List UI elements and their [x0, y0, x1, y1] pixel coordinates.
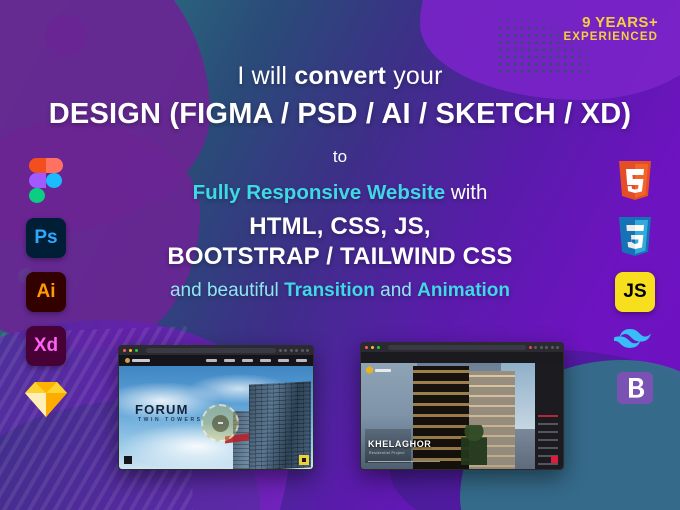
- headline-line-3-highlight: Fully Responsive Website: [193, 181, 446, 204]
- headline-line-4: HTML, CSS, JS,: [0, 213, 680, 241]
- forum-subtitle: TWIN TOWERS: [138, 417, 203, 423]
- headline-line-1-post: your: [386, 62, 443, 90]
- site-menu-a[interactable]: [206, 359, 307, 362]
- adobe-xd-icon: Xd: [26, 326, 66, 366]
- experience-badge-years: 9 YEARS+: [563, 15, 658, 31]
- javascript-icon-label: JS: [623, 281, 646, 303]
- headline-line-6-mid: and: [375, 280, 417, 301]
- headline-line-6-animation: Animation: [417, 280, 510, 301]
- design-tools-rail: Ps Ai Xd: [24, 158, 68, 418]
- forum-twin-towers-preview[interactable]: FORUM TWIN TOWERS: [118, 345, 314, 470]
- hero-image-b: KHELAGHOR Residential Project: [361, 363, 563, 469]
- site-navbar-a: [119, 355, 313, 366]
- headline-line-1-bold: convert: [294, 62, 386, 90]
- play-button-a[interactable]: [201, 404, 239, 442]
- figma-icon: [29, 158, 63, 204]
- experience-badge: 9 YEARS+ EXPERIENCED: [563, 15, 658, 43]
- browser-toolbar-icons-b: [529, 346, 560, 349]
- khelaghor-title: KHELAGHOR: [368, 439, 431, 449]
- illustrator-icon: Ai: [26, 272, 66, 312]
- headline-line-6-pre: and beautiful: [170, 280, 284, 301]
- photoshop-icon-label: Ps: [34, 227, 57, 249]
- sketch-icon: [24, 380, 68, 418]
- illustrator-icon-label: Ai: [37, 281, 56, 303]
- headline-line-6: and beautiful Transition and Animation: [0, 280, 680, 302]
- headline-connector: to: [0, 147, 680, 167]
- hero-image-a: FORUM TWIN TOWERS: [119, 366, 313, 469]
- side-panel-b: [535, 363, 563, 469]
- adobe-xd-icon-label: Xd: [34, 335, 58, 357]
- headline-line-3-rest: with: [445, 181, 487, 204]
- corner-badge-right-a[interactable]: [299, 455, 309, 465]
- css3-icon: [617, 216, 653, 258]
- forum-title: FORUM: [135, 402, 189, 417]
- browser-chrome-a: [119, 346, 313, 355]
- photoshop-icon: Ps: [26, 218, 66, 258]
- javascript-icon: JS: [615, 272, 655, 312]
- tailwind-icon: [614, 326, 656, 354]
- browser-toolbar-icons-a: [279, 349, 310, 352]
- headline-line-3: Fully Responsive Website with: [0, 181, 680, 205]
- corner-badge-right-b[interactable]: [551, 456, 558, 463]
- khelaghor-subtitle: Residential Project: [369, 451, 405, 455]
- headline-line-2: DESIGN (FIGMA / PSD / AI / SKETCH / XD): [0, 98, 680, 131]
- khelaghor-preview[interactable]: KHELAGHOR Residential Project: [360, 342, 564, 470]
- experience-badge-label: EXPERIENCED: [563, 31, 658, 43]
- browser-url-bar-a[interactable]: [146, 348, 276, 353]
- dev-tools-rail: JS: [614, 160, 656, 408]
- headline-line-6-transition: Transition: [284, 280, 375, 301]
- headline-line-5: BOOTSTRAP / TAILWIND CSS: [0, 243, 680, 271]
- html5-icon: [617, 160, 653, 202]
- bootstrap-icon: [615, 368, 655, 408]
- headline-line-1-pre: I will: [237, 62, 294, 90]
- gig-thumbnail-poster: 9 YEARS+ EXPERIENCED I will convert your…: [0, 0, 680, 510]
- site-logo-b: [366, 366, 391, 374]
- khelaghor-divider: [368, 461, 440, 462]
- headline-block: I will convert your DESIGN (FIGMA / PSD …: [0, 0, 680, 302]
- headline-line-1: I will convert your: [0, 62, 680, 91]
- browser-url-bar-b[interactable]: [388, 345, 526, 350]
- browser-chrome-b: [361, 343, 563, 352]
- corner-badge-left-a: [124, 456, 132, 464]
- site-logo-a: [125, 358, 150, 363]
